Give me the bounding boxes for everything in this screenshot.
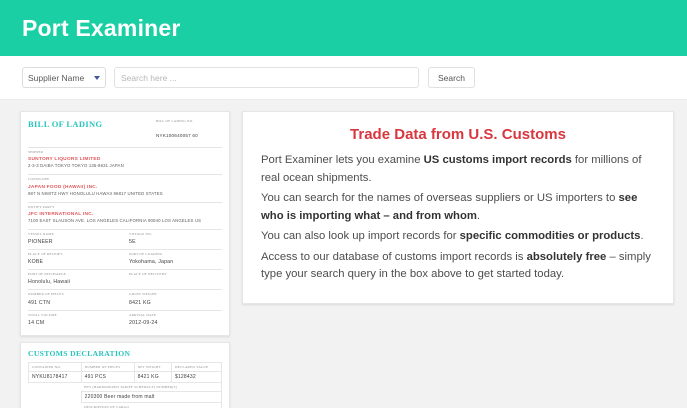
- promo-title: Trade Data from U.S. Customs: [261, 126, 655, 143]
- bol-field: PORT OF DISCHARGE Honolulu, Hawaii: [28, 270, 125, 289]
- bol-field-row: PORT OF DISCHARGE Honolulu, Hawaii PLACE…: [28, 269, 222, 289]
- field-label: PORT OF LOADING: [129, 252, 220, 257]
- bol-header: BILL OF LADING BILL OF LADING NO. NYK100…: [28, 119, 222, 142]
- promo-p3-c: .: [640, 230, 643, 242]
- field-value: 8421 KG: [129, 300, 220, 307]
- field-label: VOYAGE NO.: [129, 232, 220, 237]
- search-bar: Supplier Name Search: [0, 56, 687, 100]
- promo-p1-a: Port Examiner lets you examine: [261, 154, 424, 166]
- bol-field: PLACE OF RECEIPT KOBE: [28, 250, 125, 269]
- bol-field-row: TOTAL VOLUME 14 CM ARRIVAL DATE 2012-09-…: [28, 310, 222, 330]
- search-input[interactable]: [114, 67, 419, 88]
- bol-title: BILL OF LADING: [28, 119, 103, 129]
- column-header: NUMBER OF PIECES: [81, 362, 134, 371]
- bol-field: PLACE OF DELIVERY: [125, 270, 222, 289]
- shipper-label: SHIPPER: [28, 150, 222, 155]
- notify-party-name: JFC INTERNATIONAL INC.: [28, 212, 222, 217]
- bol-number-label: BILL OF LADING NO.: [156, 119, 222, 124]
- cell-net-weight: 8421 KG: [134, 371, 171, 382]
- bol-field: GROSS WEIGHT 8421 KG: [125, 290, 222, 309]
- promo-p3-b: specific commodities or products: [460, 230, 641, 242]
- field-value: Yokohama, Japan: [129, 259, 220, 266]
- hts-value-row: 220300 Beer made from malt: [29, 391, 222, 402]
- hts-value: 220300 Beer made from malt: [81, 391, 221, 402]
- field-value: 2012-09-24: [129, 320, 220, 327]
- divider: [28, 147, 222, 148]
- field-label: PORT OF DISCHARGE: [28, 272, 123, 277]
- shipper-block: SHIPPER SUNTORY LIQUORS LIMITED 2-3-3 DA…: [28, 147, 222, 169]
- hts-label: HTS (HARMONIZED TARIFF SCHEDULE) NUMBER(…: [81, 382, 221, 391]
- column-header: NET WEIGHT: [134, 362, 171, 371]
- bol-number-value: NYK100640057 60: [156, 133, 198, 138]
- brand-title: Port Examiner: [22, 15, 181, 42]
- table-header-row: CONTAINER NO. NUMBER OF PIECES NET WEIGH…: [29, 362, 222, 371]
- bol-field-row: NUMBER OF PIECES 491 CTN GROSS WEIGHT 84…: [28, 289, 222, 309]
- bol-field: VOYAGE NO. 5E: [125, 230, 222, 249]
- field-label: VESSEL NAME: [28, 232, 123, 237]
- promo-column: Trade Data from U.S. Customs Port Examin…: [242, 111, 674, 408]
- cell-number-of-pieces: 491 PCS: [81, 371, 134, 382]
- notify-party-block: NOTIFY PARTY JFC INTERNATIONAL INC. 7100…: [28, 202, 222, 224]
- promo-paragraph-2: You can search for the names of overseas…: [261, 190, 655, 225]
- search-category-select[interactable]: Supplier Name: [22, 67, 106, 88]
- bol-number-block: BILL OF LADING NO. NYK100640057 60: [156, 119, 222, 142]
- promo-card: Trade Data from U.S. Customs Port Examin…: [242, 111, 674, 304]
- cargo-label-row: DESCRIPTION OF CARGO: [29, 402, 222, 408]
- shipper-name: SUNTORY LIQUORS LIMITED: [28, 157, 222, 162]
- hts-label-row: HTS (HARMONIZED TARIFF SCHEDULE) NUMBER(…: [29, 382, 222, 391]
- document-column: BILL OF LADING BILL OF LADING NO. NYK100…: [20, 111, 230, 408]
- notify-party-label: NOTIFY PARTY: [28, 205, 222, 210]
- bol-fields-grid: VESSEL NAME PIONEER VOYAGE NO. 5E PLACE …: [28, 229, 222, 330]
- cell-container-no: NYKU8178417: [29, 371, 82, 382]
- field-value: Honolulu, Hawaii: [28, 279, 123, 286]
- field-label: ARRIVAL DATE: [129, 313, 220, 318]
- bol-field-row: VESSEL NAME PIONEER VOYAGE NO. 5E: [28, 229, 222, 249]
- search-category-label: Supplier Name: [28, 73, 84, 83]
- promo-paragraph-3: You can also look up import records for …: [261, 228, 655, 246]
- promo-p4-b: absolutely free: [527, 251, 607, 263]
- promo-p1-b: US customs import records: [424, 154, 572, 166]
- chevron-down-icon: [94, 76, 100, 80]
- bol-field: TOTAL VOLUME 14 CM: [28, 311, 125, 330]
- promo-p2-a: You can search for the names of overseas…: [261, 192, 619, 204]
- bol-field: ARRIVAL DATE 2012-09-24: [125, 311, 222, 330]
- field-label: NUMBER OF PIECES: [28, 292, 123, 297]
- field-value: 5E: [129, 239, 220, 246]
- consignee-address: 987 N NIMITZ HWY HONOLULU HAWAII 96817 U…: [28, 191, 222, 197]
- content-area: BILL OF LADING BILL OF LADING NO. NYK100…: [0, 100, 687, 408]
- site-header: Port Examiner: [0, 0, 687, 56]
- bol-field: NUMBER OF PIECES 491 CTN: [28, 290, 125, 309]
- customs-declaration-title: CUSTOMS DECLARATION: [28, 349, 222, 358]
- promo-paragraph-4: Access to our database of customs import…: [261, 249, 655, 284]
- consignee-name: JAPAN FOOD (HAWAII) INC.: [28, 185, 222, 190]
- column-header: DECLARED VALUE: [171, 362, 221, 371]
- bol-field: PORT OF LOADING Yokohama, Japan: [125, 250, 222, 269]
- customs-declaration-table: CONTAINER NO. NUMBER OF PIECES NET WEIGH…: [28, 362, 222, 408]
- field-label: TOTAL VOLUME: [28, 313, 123, 318]
- field-value: PIONEER: [28, 239, 123, 246]
- field-label: GROSS WEIGHT: [129, 292, 220, 297]
- cell-declared-value: $128432: [171, 371, 221, 382]
- divider: [28, 202, 222, 203]
- promo-paragraph-1: Port Examiner lets you examine US custom…: [261, 152, 655, 187]
- notify-party-address: 7100 EAST SLAUSON AVE. LOS ANGELES CALIF…: [28, 218, 222, 224]
- bill-of-lading-card: BILL OF LADING BILL OF LADING NO. NYK100…: [20, 111, 230, 336]
- field-value: [129, 279, 220, 286]
- promo-p4-a: Access to our database of customs import…: [261, 251, 527, 263]
- table-row: NYKU8178417 491 PCS 8421 KG $128432: [29, 371, 222, 382]
- cargo-description-label: DESCRIPTION OF CARGO: [81, 402, 221, 408]
- field-value: KOBE: [28, 259, 123, 266]
- search-button[interactable]: Search: [428, 67, 475, 88]
- customs-declaration-card: CUSTOMS DECLARATION CONTAINER NO. NUMBER…: [20, 342, 230, 408]
- bol-field: VESSEL NAME PIONEER: [28, 230, 125, 249]
- promo-p2-c: .: [477, 210, 480, 222]
- consignee-label: CONSIGNEE: [28, 177, 222, 182]
- field-value: 491 CTN: [28, 300, 123, 307]
- column-header: CONTAINER NO.: [29, 362, 82, 371]
- field-label: PLACE OF RECEIPT: [28, 252, 123, 257]
- shipper-address: 2-3-3 DAIBA TOKYO TOKYO 135-8631 JAPAN: [28, 163, 222, 169]
- field-label: PLACE OF DELIVERY: [129, 272, 220, 277]
- divider: [28, 174, 222, 175]
- bol-field-row: PLACE OF RECEIPT KOBE PORT OF LOADING Yo…: [28, 249, 222, 269]
- promo-p3-a: You can also look up import records for: [261, 230, 460, 242]
- consignee-block: CONSIGNEE JAPAN FOOD (HAWAII) INC. 987 N…: [28, 174, 222, 196]
- field-value: 14 CM: [28, 320, 123, 327]
